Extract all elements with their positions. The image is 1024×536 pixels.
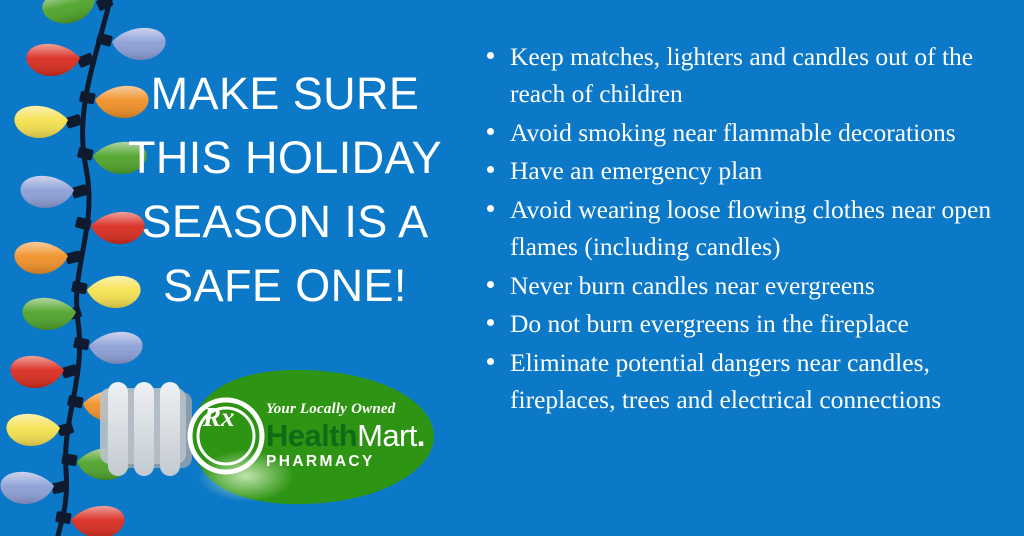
rx-symbol: Rx [203, 402, 235, 433]
bulb-red-3 [10, 356, 78, 388]
bulb-blue-3 [73, 332, 143, 364]
list-item: Never burn candles near evergreens [482, 267, 994, 304]
list-item: Avoid wearing loose flowing clothes near… [482, 191, 994, 266]
logo-tagline: Your Locally Owned [266, 401, 395, 418]
safety-tips-list: Keep matches, lighters and candles out o… [482, 38, 994, 420]
bulb-green-3 [22, 298, 82, 330]
holiday-fire-safety-poster: MAKE SURE THIS HOLIDAY SEASON IS A SAFE … [0, 0, 1024, 536]
health-mart-logo: Rx Your Locally Owned HealthMart. PHARMA… [96, 366, 441, 514]
list-item: Have an emergency plan [482, 152, 994, 189]
bulb-yellow-1 [14, 106, 82, 138]
logo-brand-name: HealthMart. [266, 418, 425, 454]
bulb-base [100, 382, 192, 476]
bulb-blue-4 [0, 472, 68, 504]
list-item: Do not burn evergreens in the fireplace [482, 305, 994, 342]
headline-line-3: SEASON IS A [100, 190, 470, 254]
headline-line-4: SAFE ONE! [100, 254, 470, 318]
bulb-red-1 [26, 44, 94, 76]
headline-line-2: THIS HOLIDAY [100, 126, 470, 190]
bulb-blue-1 [96, 28, 166, 60]
page-title: MAKE SURE THIS HOLIDAY SEASON IS A SAFE … [100, 62, 470, 318]
list-item: Avoid smoking near flammable decorations [482, 114, 994, 151]
bulb-blue-2 [20, 176, 88, 208]
bulb-orange-2 [14, 242, 82, 274]
brand-mart: Mart [357, 418, 417, 453]
headline-line-1: MAKE SURE [100, 62, 470, 126]
list-item: Eliminate potential dangers near candles… [482, 344, 994, 419]
brand-period: . [417, 418, 425, 453]
brand-health: Health [266, 418, 357, 453]
list-item: Keep matches, lighters and candles out o… [482, 38, 994, 113]
logo-subtitle: PHARMACY [266, 453, 375, 471]
